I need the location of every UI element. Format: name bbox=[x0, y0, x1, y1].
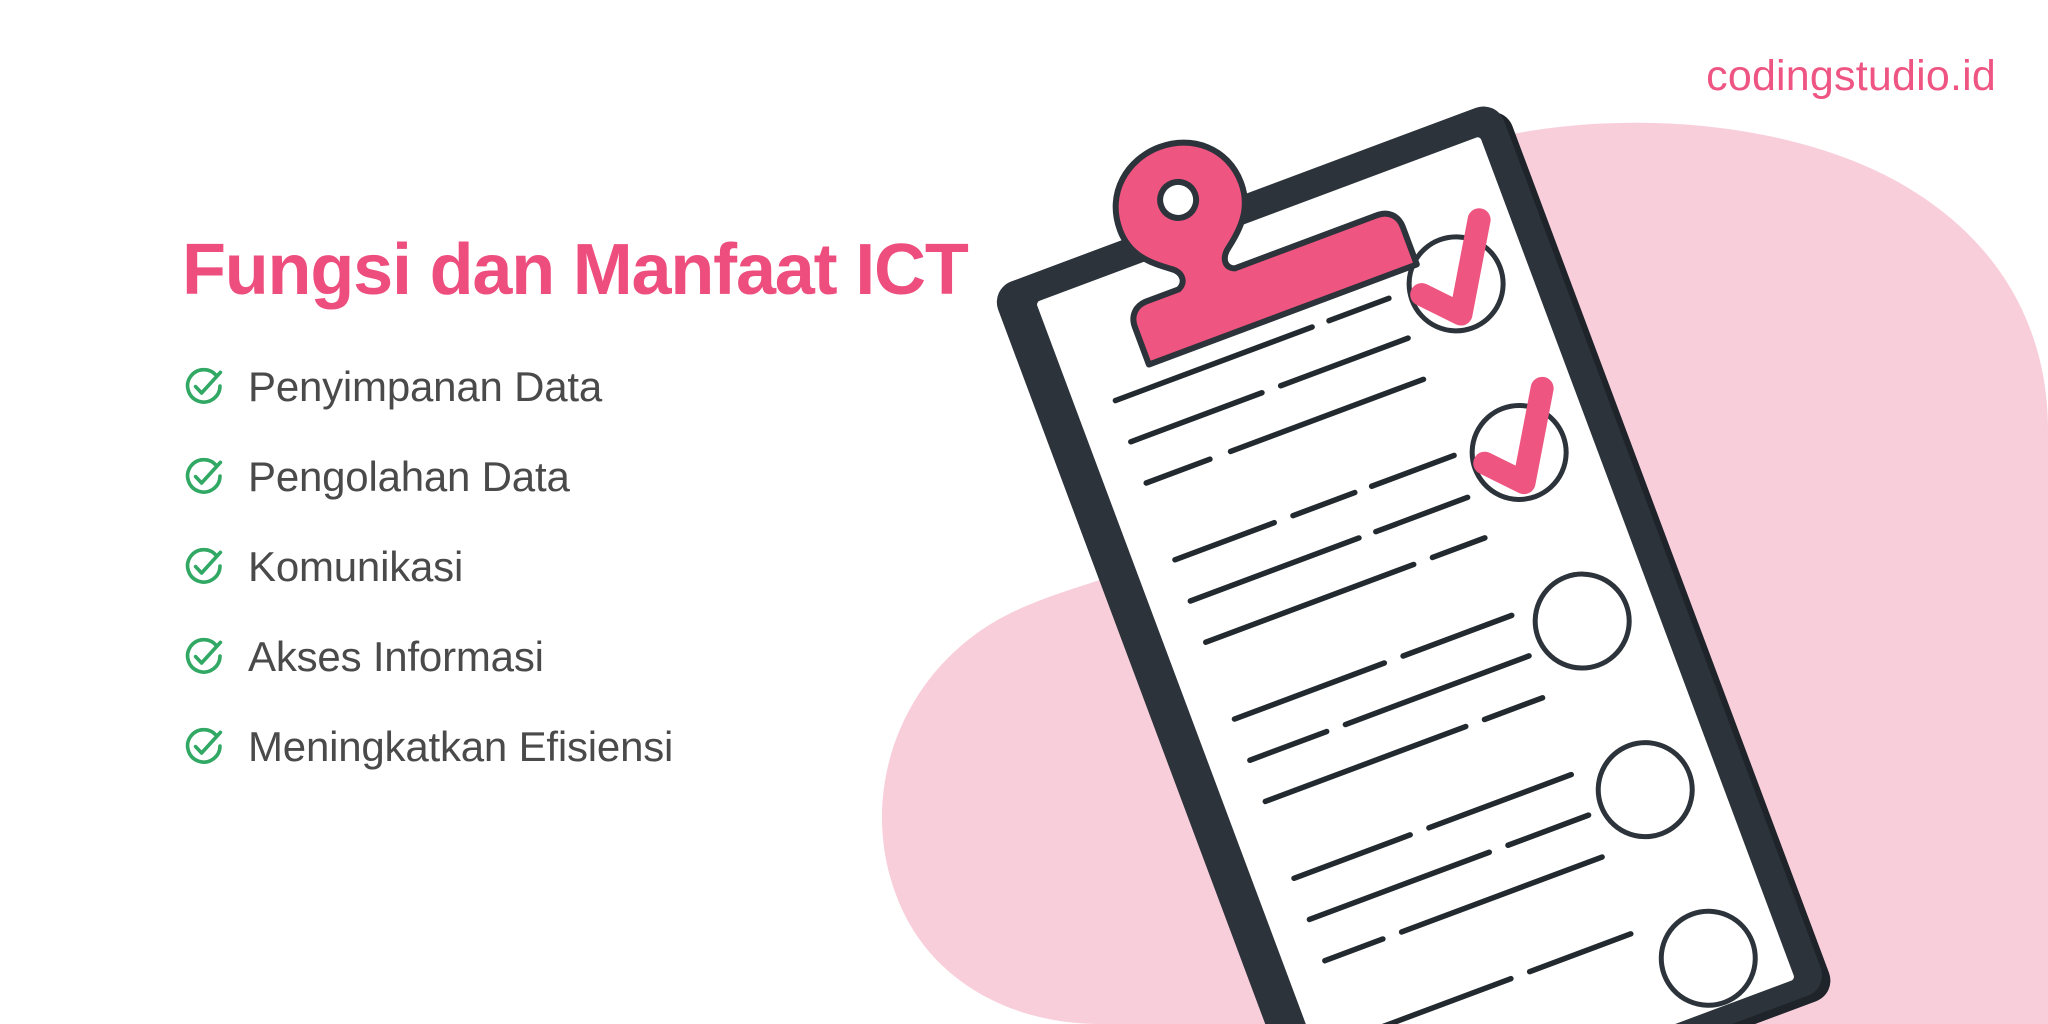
list-item-label: Meningkatkan Efisiensi bbox=[248, 726, 673, 768]
content-column: Fungsi dan Manfaat ICT Penyimpanan Data bbox=[182, 232, 1182, 792]
list-item-label: Akses Informasi bbox=[248, 636, 544, 678]
list-item: Akses Informasi bbox=[182, 612, 1182, 702]
clipboard-checklist-illustration bbox=[1080, 90, 2048, 1024]
check-circle-icon bbox=[182, 455, 226, 499]
check-circle-icon bbox=[182, 365, 226, 409]
list-item-label: Komunikasi bbox=[248, 546, 463, 588]
list-item: Penyimpanan Data bbox=[182, 342, 1182, 432]
list-item: Pengolahan Data bbox=[182, 432, 1182, 522]
list-item-label: Pengolahan Data bbox=[248, 456, 570, 498]
check-circle-icon bbox=[182, 725, 226, 769]
list-item-label: Penyimpanan Data bbox=[248, 366, 602, 408]
benefits-checklist: Penyimpanan Data Pengolahan Data bbox=[182, 342, 1182, 792]
page-title: Fungsi dan Manfaat ICT bbox=[182, 232, 1182, 308]
brand-watermark: codingstudio.id bbox=[1706, 52, 1996, 101]
check-circle-icon bbox=[182, 545, 226, 589]
list-item: Meningkatkan Efisiensi bbox=[182, 702, 1182, 792]
check-circle-icon bbox=[182, 635, 226, 679]
list-item: Komunikasi bbox=[182, 522, 1182, 612]
poster-canvas: codingstudio.id Fungsi dan Manfaat ICT P… bbox=[0, 0, 2048, 1024]
